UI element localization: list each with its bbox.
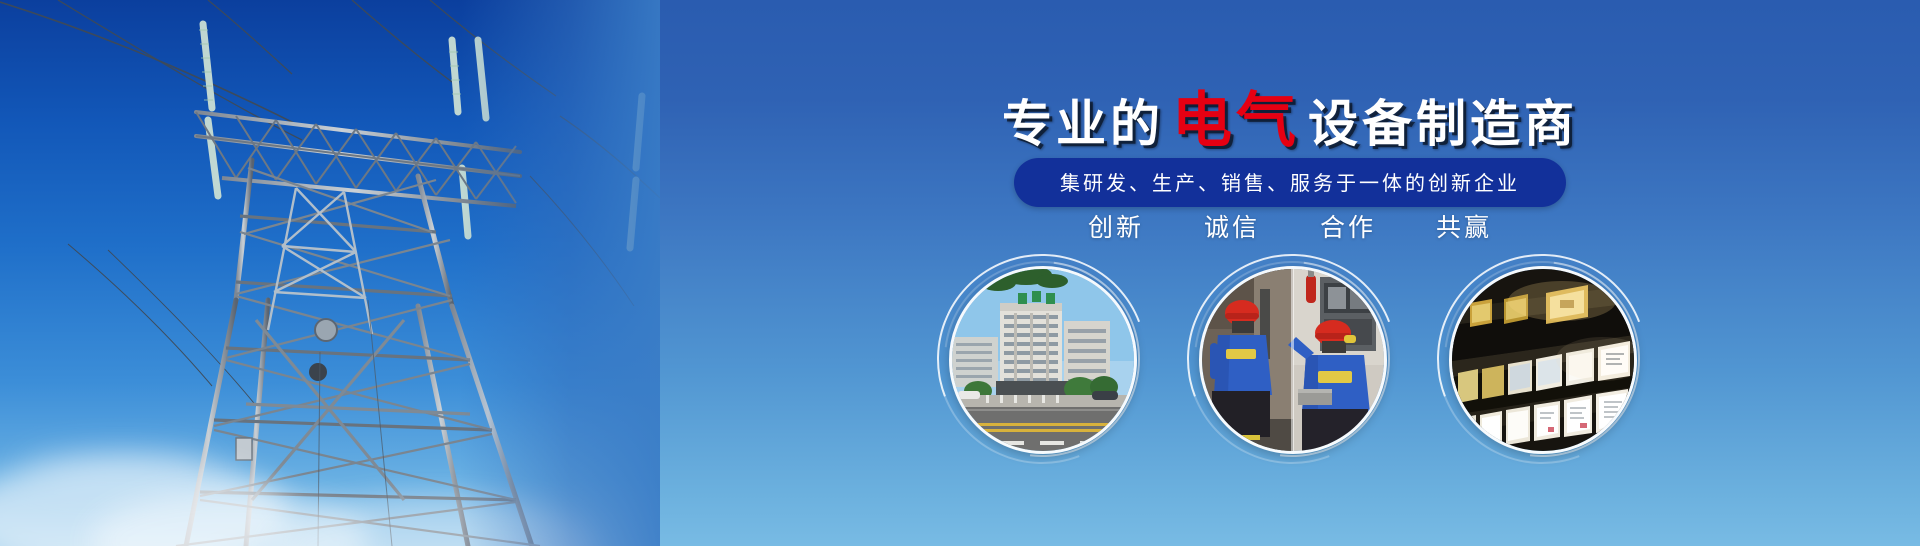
photo-circle-office-building[interactable] [945, 262, 1135, 452]
keyword-row: 创新诚信合作共赢 [660, 208, 1920, 244]
office-building-image [949, 266, 1137, 454]
keyword-cooperation: 合作 [1320, 208, 1376, 244]
photo-circle-certificate-wall[interactable] [1445, 262, 1635, 452]
headline-highlight: 电气 [1172, 86, 1300, 156]
subtitle-pill: 集研发、生产、销售、服务于一体的创新企业 [1014, 158, 1566, 207]
photo-circle-row [660, 262, 1920, 532]
certificate-wall-image [1449, 266, 1637, 454]
photo-circle-workers[interactable] [1195, 262, 1385, 452]
banner-content: 专业的电气设备制造商 集研发、生产、销售、服务于一体的创新企业 创新诚信合作共赢 [660, 0, 1920, 546]
photo-edge-fade [460, 0, 660, 546]
hero-banner: 专业的电气设备制造商 集研发、生产、销售、服务于一体的创新企业 创新诚信合作共赢 [0, 0, 1920, 546]
transmission-tower-photo [0, 0, 660, 546]
keyword-win-win: 共赢 [1436, 208, 1492, 244]
subtitle-pill-wrapper: 集研发、生产、销售、服务于一体的创新企业 [660, 158, 1920, 207]
headline-part-1: 专业的 [1002, 95, 1164, 153]
headline: 专业的电气设备制造商 [660, 72, 1920, 159]
keyword-innovation: 创新 [1088, 208, 1144, 244]
keyword-integrity: 诚信 [1204, 208, 1260, 244]
headline-part-2: 设备制造商 [1308, 95, 1578, 153]
workers-installing-equipment-image [1199, 266, 1387, 454]
